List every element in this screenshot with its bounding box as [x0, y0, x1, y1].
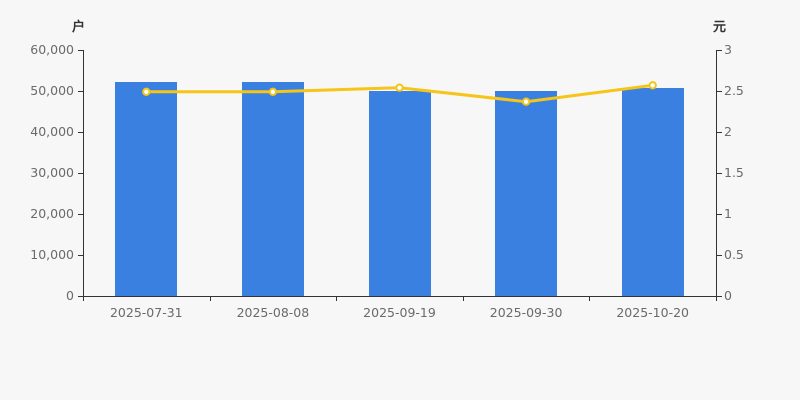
- right-axis-tick-mark: [717, 50, 722, 51]
- bar[interactable]: [369, 91, 431, 296]
- right-axis-tick-mark: [717, 296, 722, 297]
- left-axis-tick-label: 0: [66, 288, 74, 303]
- left-axis-tick-mark: [78, 214, 83, 215]
- x-axis-tick-mark: [589, 296, 590, 301]
- left-axis-tick-mark: [78, 50, 83, 51]
- right-axis-tick-mark: [717, 255, 722, 256]
- right-axis-tick-label: 0: [724, 288, 732, 303]
- bar[interactable]: [622, 88, 684, 296]
- right-axis-unit-label: 元: [713, 16, 726, 35]
- left-axis-unit-label: 户: [72, 16, 85, 35]
- left-axis-tick-label: 60,000: [30, 42, 74, 57]
- right-axis-tick-mark: [717, 91, 722, 92]
- dual-axis-chart: 户 元 010,00020,00030,00040,00050,00060,00…: [0, 0, 800, 400]
- left-axis-tick-label: 50,000: [30, 83, 74, 98]
- x-axis-tick-mark: [716, 296, 717, 301]
- x-axis-tick-mark: [83, 296, 84, 301]
- x-axis-line: [83, 296, 717, 297]
- x-axis-category-label: 2025-08-08: [237, 305, 310, 320]
- left-axis-line: [83, 50, 84, 297]
- right-axis-tick-label: 2: [724, 124, 732, 139]
- right-axis-tick-label: 3: [724, 42, 732, 57]
- right-axis-tick-mark: [717, 132, 722, 133]
- left-axis-tick-label: 20,000: [30, 206, 74, 221]
- x-axis-tick-mark: [463, 296, 464, 301]
- x-axis-category-label: 2025-09-19: [363, 305, 436, 320]
- right-axis-tick-mark: [717, 173, 722, 174]
- bar[interactable]: [115, 82, 177, 296]
- x-axis-category-label: 2025-10-20: [616, 305, 689, 320]
- bar[interactable]: [242, 82, 304, 296]
- left-axis-tick-label: 30,000: [30, 165, 74, 180]
- x-axis-category-label: 2025-07-31: [110, 305, 183, 320]
- right-axis-tick-mark: [717, 214, 722, 215]
- left-axis-tick-mark: [78, 255, 83, 256]
- left-axis-tick-label: 10,000: [30, 247, 74, 262]
- left-axis-tick-mark: [78, 91, 83, 92]
- right-axis-tick-label: 1: [724, 206, 732, 221]
- left-axis-tick-mark: [78, 173, 83, 174]
- x-axis-tick-mark: [336, 296, 337, 301]
- right-axis-tick-label: 2.5: [724, 83, 744, 98]
- left-axis-tick-mark: [78, 132, 83, 133]
- right-axis-tick-label: 1.5: [724, 165, 744, 180]
- bar[interactable]: [495, 91, 557, 296]
- right-axis-tick-label: 0.5: [724, 247, 744, 262]
- left-axis-tick-label: 40,000: [30, 124, 74, 139]
- x-axis-category-label: 2025-09-30: [490, 305, 563, 320]
- x-axis-tick-mark: [210, 296, 211, 301]
